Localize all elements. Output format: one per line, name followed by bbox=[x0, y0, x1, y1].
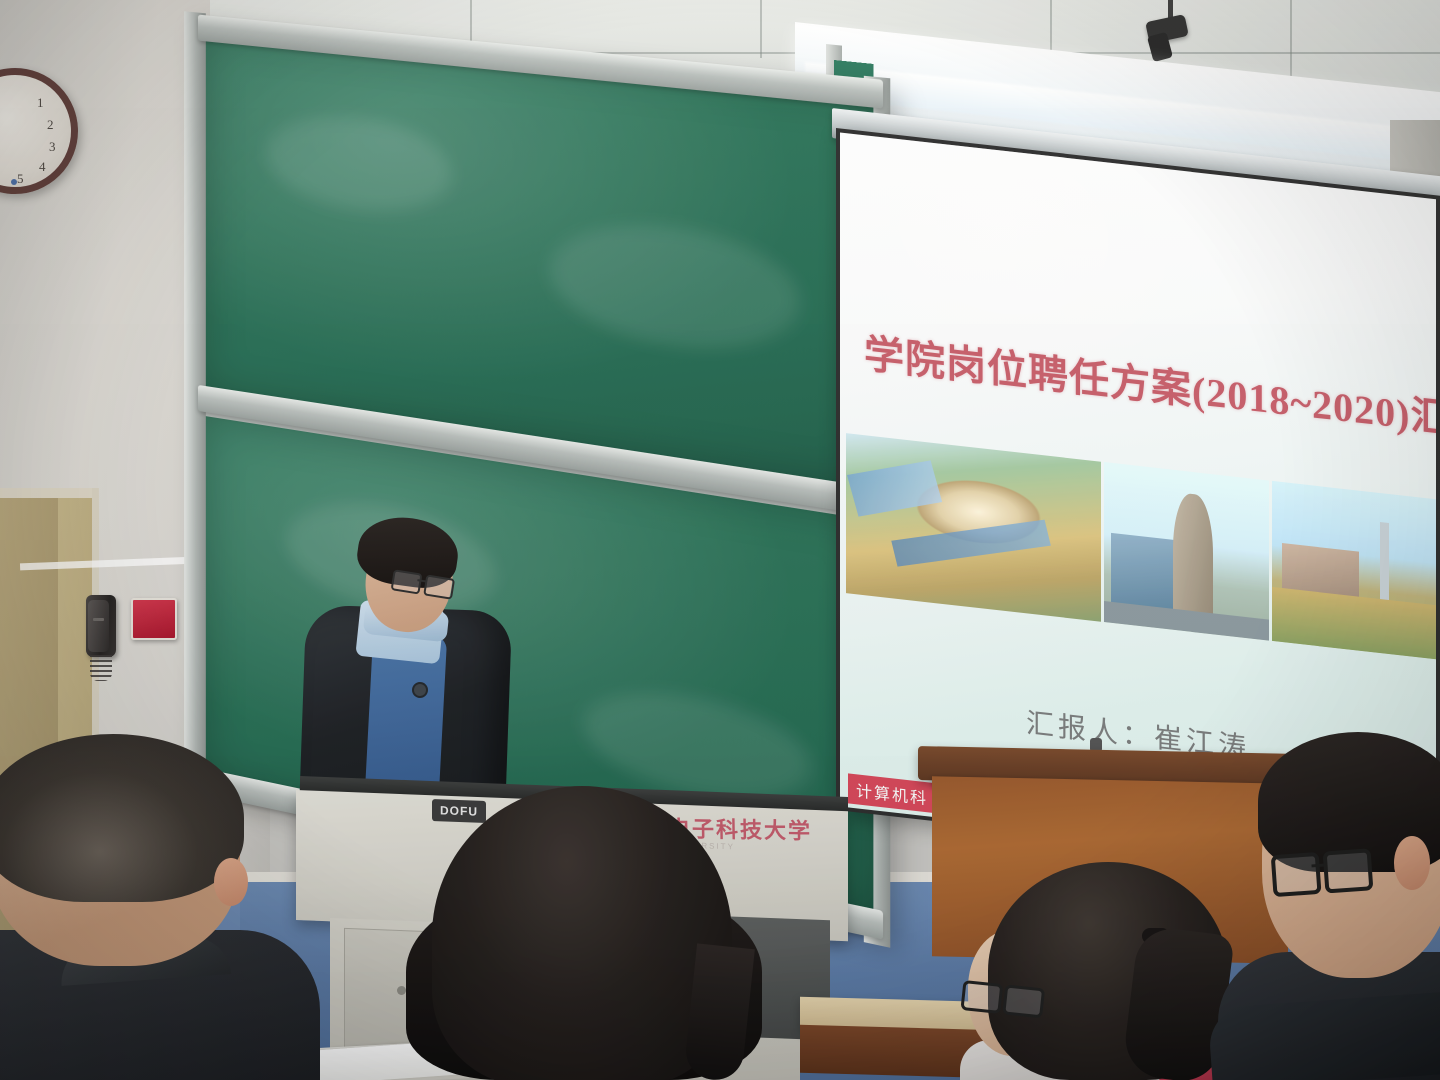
door-header-jamb bbox=[0, 488, 92, 498]
console-brand-logo: DOFU bbox=[432, 799, 486, 823]
phone-cord bbox=[90, 655, 112, 681]
slide-photo-aerial-campus bbox=[846, 433, 1101, 622]
slide-photo-stele-monument bbox=[1104, 462, 1269, 641]
clock-number-5: 5 bbox=[17, 171, 24, 187]
presenter-jacket-zipper bbox=[414, 684, 426, 696]
audience-left-man-hair bbox=[0, 734, 244, 902]
clock-number-2: 2 bbox=[47, 117, 54, 133]
phone-handset-icon[interactable] bbox=[88, 600, 109, 652]
clock-number-4: 4 bbox=[39, 159, 46, 175]
audience-right-man-ear bbox=[1394, 836, 1430, 890]
classroom-scene: 1 2 3 4 5 bbox=[0, 0, 1440, 1080]
clock-number-3: 3 bbox=[49, 139, 56, 155]
clock-number-1: 1 bbox=[37, 95, 44, 111]
audience-right-man-eyeglasses-icon bbox=[1271, 849, 1366, 895]
fire-alarm-call-point[interactable] bbox=[131, 598, 177, 640]
slide-photo-campus-autumn bbox=[1272, 481, 1436, 661]
audience-left-man-ear bbox=[214, 858, 248, 906]
slide-photo-strip bbox=[846, 433, 1436, 660]
console-door-handle[interactable] bbox=[397, 986, 406, 995]
clock-hand-tip bbox=[11, 179, 17, 185]
phone-button[interactable] bbox=[93, 618, 104, 621]
